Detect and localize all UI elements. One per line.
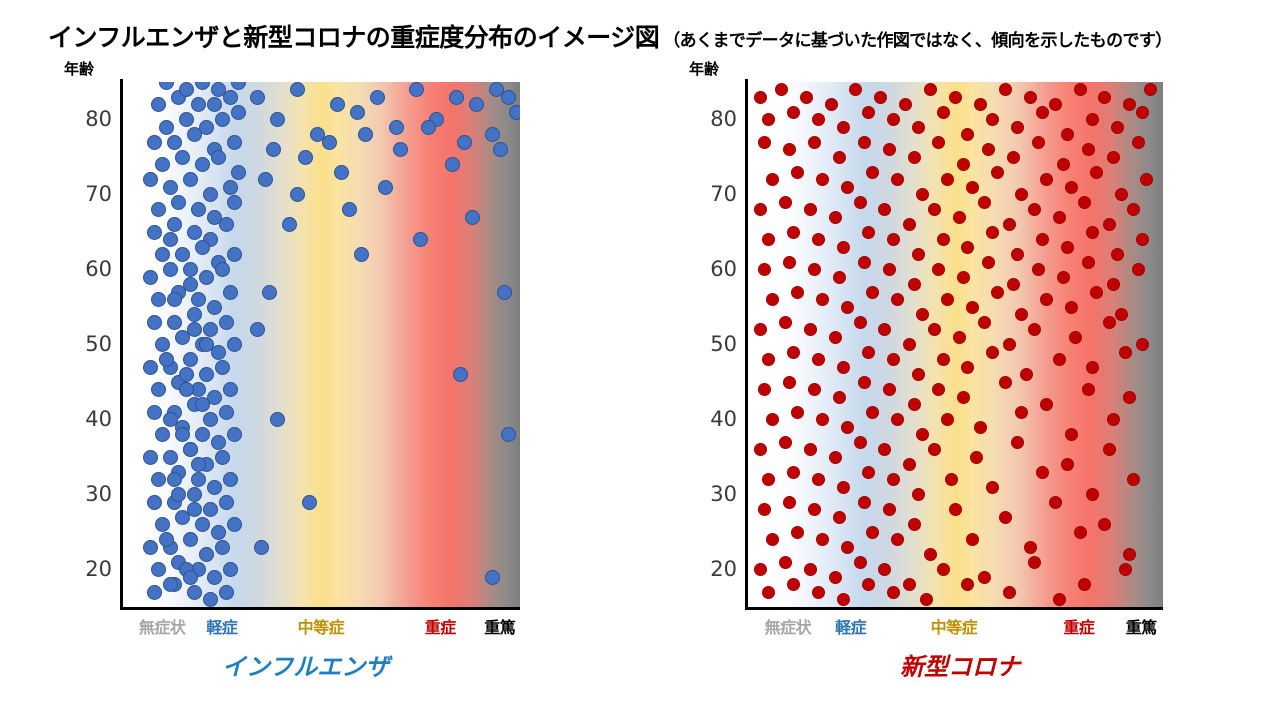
data-point: [203, 502, 218, 517]
data-point: [816, 533, 829, 546]
data-point: [1015, 406, 1028, 419]
data-point: [791, 406, 804, 419]
data-point: [282, 217, 297, 232]
data-point: [191, 292, 206, 307]
data-point: [937, 563, 950, 576]
data-point: [445, 157, 460, 172]
data-point: [1123, 391, 1136, 404]
data-point: [199, 270, 214, 285]
data-point: [1011, 121, 1024, 134]
data-point: [1049, 496, 1062, 509]
data-point: [187, 127, 202, 142]
data-point: [179, 367, 194, 382]
data-point: [783, 376, 796, 389]
data-point: [219, 495, 234, 510]
data-point: [1003, 586, 1016, 599]
data-point: [970, 451, 983, 464]
data-point: [223, 180, 238, 195]
data-point: [787, 226, 800, 239]
data-point: [1123, 548, 1136, 561]
data-point: [1061, 458, 1074, 471]
data-point: [231, 165, 246, 180]
series-title-covid: 新型コロナ: [900, 647, 1020, 682]
data-point: [1049, 98, 1062, 111]
data-point: [211, 525, 226, 540]
x-axis-category-5: 重篤: [1126, 614, 1157, 638]
x-axis-category-4: 重症: [425, 614, 456, 638]
data-point: [829, 331, 842, 344]
data-point: [758, 136, 771, 149]
y-axis-tick-label: 20: [85, 559, 112, 580]
data-point: [783, 143, 796, 156]
data-point: [999, 83, 1012, 96]
data-point: [1107, 278, 1120, 291]
plot-area-influenza: [123, 82, 520, 607]
data-point: [878, 323, 891, 336]
data-point: [866, 526, 879, 539]
data-point: [290, 187, 305, 202]
data-point: [953, 331, 966, 344]
data-point: [924, 548, 937, 561]
data-point: [816, 293, 829, 306]
data-point: [912, 488, 925, 501]
data-point: [469, 97, 484, 112]
data-point: [207, 300, 222, 315]
data-point: [195, 240, 210, 255]
data-point: [978, 316, 991, 329]
x-axis-line: [745, 607, 1163, 610]
data-point: [1127, 203, 1140, 216]
data-point: [183, 172, 198, 187]
data-point: [766, 533, 779, 546]
data-point: [762, 473, 775, 486]
data-point: [1053, 211, 1066, 224]
data-point: [215, 540, 230, 555]
y-axis-tick-label: 80: [710, 109, 737, 130]
data-point: [854, 316, 867, 329]
data-point: [908, 398, 921, 411]
data-point: [1053, 593, 1066, 606]
data-point: [1119, 563, 1132, 576]
data-point: [862, 106, 875, 119]
data-point: [945, 473, 958, 486]
data-point: [509, 105, 520, 120]
data-point: [1057, 158, 1070, 171]
data-point: [227, 337, 242, 352]
data-point: [887, 233, 900, 246]
data-point: [1136, 233, 1149, 246]
data-point: [1132, 263, 1145, 276]
data-point: [203, 187, 218, 202]
data-point: [982, 256, 995, 269]
data-point: [227, 195, 242, 210]
x-axis-category-2: 軽症: [835, 614, 866, 638]
data-point: [183, 532, 198, 547]
y-axis-tick-label: 50: [710, 334, 737, 355]
data-point: [762, 586, 775, 599]
data-point: [187, 585, 202, 600]
data-point: [1015, 308, 1028, 321]
data-point: [791, 166, 804, 179]
data-point: [1007, 278, 1020, 291]
data-point: [874, 91, 887, 104]
data-point: [219, 217, 234, 232]
data-point: [999, 511, 1012, 524]
data-point: [1132, 136, 1145, 149]
data-point: [1136, 338, 1149, 351]
data-point: [858, 496, 871, 509]
data-point: [974, 421, 987, 434]
data-point: [195, 427, 210, 442]
data-point: [179, 112, 194, 127]
data-point: [862, 226, 875, 239]
data-point: [187, 322, 202, 337]
data-point: [758, 503, 771, 516]
data-point: [837, 481, 850, 494]
data-point: [837, 361, 850, 374]
data-point: [1061, 128, 1074, 141]
data-point: [151, 562, 166, 577]
data-point: [766, 413, 779, 426]
data-point: [891, 533, 904, 546]
data-point: [254, 540, 269, 555]
data-point: [833, 151, 846, 164]
data-point: [1111, 121, 1124, 134]
data-point: [155, 247, 170, 262]
data-point: [986, 113, 999, 126]
page-subtitle: （あくまでデータに基づいた作図ではなく、傾向を示したものです）: [663, 26, 1171, 51]
data-point: [837, 593, 850, 606]
data-point: [908, 518, 921, 531]
y-axis-tick-label: 80: [85, 109, 112, 130]
data-point: [1065, 181, 1078, 194]
data-point: [1040, 173, 1053, 186]
data-point: [999, 376, 1012, 389]
data-point: [231, 105, 246, 120]
data-point: [155, 517, 170, 532]
data-point: [143, 270, 158, 285]
data-point: [1127, 473, 1140, 486]
data-point: [912, 368, 925, 381]
data-point: [991, 286, 1004, 299]
data-point: [779, 556, 792, 569]
data-point: [787, 466, 800, 479]
data-point: [808, 503, 821, 516]
data-point: [378, 180, 393, 195]
data-point: [841, 301, 854, 314]
data-point: [191, 457, 206, 472]
data-point: [1036, 106, 1049, 119]
data-point: [163, 450, 178, 465]
data-point: [322, 135, 337, 150]
data-point: [899, 98, 912, 111]
data-point: [837, 241, 850, 254]
data-point: [1103, 218, 1116, 231]
data-point: [941, 413, 954, 426]
data-point: [207, 480, 222, 495]
data-point: [1086, 361, 1099, 374]
data-point: [1028, 203, 1041, 216]
data-point: [883, 383, 896, 396]
data-point: [1057, 271, 1070, 284]
data-point: [250, 322, 265, 337]
data-point: [791, 286, 804, 299]
data-point: [175, 150, 190, 165]
data-point: [219, 585, 234, 600]
data-point: [903, 338, 916, 351]
data-point: [858, 376, 871, 389]
data-point: [183, 262, 198, 277]
data-point: [766, 293, 779, 306]
data-point: [302, 495, 317, 510]
data-point: [766, 173, 779, 186]
data-point: [1119, 346, 1132, 359]
data-point: [155, 337, 170, 352]
data-point: [1136, 106, 1149, 119]
data-point: [912, 121, 925, 134]
data-point: [1036, 233, 1049, 246]
data-point: [497, 285, 512, 300]
data-point: [961, 241, 974, 254]
data-point: [151, 472, 166, 487]
x-axis-category-4: 重症: [1063, 614, 1094, 638]
data-point: [812, 586, 825, 599]
data-point: [891, 413, 904, 426]
data-point: [1040, 398, 1053, 411]
data-point: [151, 382, 166, 397]
data-point: [974, 98, 987, 111]
data-point: [1024, 541, 1037, 554]
series-title-influenza: インフルエンザ: [222, 647, 389, 682]
data-point: [1082, 256, 1095, 269]
data-point: [854, 196, 867, 209]
data-point: [207, 97, 222, 112]
data-point: [966, 301, 979, 314]
data-point: [986, 226, 999, 239]
data-point: [887, 586, 900, 599]
data-point: [1069, 331, 1082, 344]
data-point: [215, 360, 230, 375]
data-point: [211, 82, 226, 97]
data-point: [862, 578, 875, 591]
data-point: [932, 383, 945, 396]
data-point: [754, 323, 767, 336]
x-axis-category-1: 無症状: [765, 614, 812, 638]
data-point: [916, 188, 929, 201]
data-point: [800, 91, 813, 104]
data-point: [203, 592, 218, 607]
data-point: [837, 121, 850, 134]
data-point: [370, 90, 385, 105]
data-point: [787, 578, 800, 591]
data-point: [783, 256, 796, 269]
data-point: [219, 315, 234, 330]
data-point: [866, 286, 879, 299]
data-point: [754, 203, 767, 216]
data-point: [1098, 91, 1111, 104]
data-point: [829, 451, 842, 464]
data-point: [791, 526, 804, 539]
data-point: [779, 436, 792, 449]
y-axis-tick-label: 20: [710, 559, 737, 580]
data-point: [187, 487, 202, 502]
data-point: [862, 466, 875, 479]
data-point: [195, 157, 210, 172]
data-point: [298, 150, 313, 165]
data-point: [1103, 316, 1116, 329]
page-title: インフルエンザと新型コロナの重症度分布のイメージ図: [48, 18, 659, 54]
data-point: [147, 495, 162, 510]
data-point: [147, 135, 162, 150]
data-point: [1107, 151, 1120, 164]
data-point: [804, 323, 817, 336]
data-point: [485, 127, 500, 142]
data-point: [203, 412, 218, 427]
data-point: [961, 128, 974, 141]
data-point: [957, 271, 970, 284]
data-point: [1053, 353, 1066, 366]
data-point: [167, 292, 182, 307]
data-point: [1103, 443, 1116, 456]
data-point: [1074, 526, 1087, 539]
data-point: [147, 405, 162, 420]
data-point: [758, 263, 771, 276]
data-point: [908, 151, 921, 164]
data-point: [215, 112, 230, 127]
data-point: [941, 173, 954, 186]
x-axis-category-1: 無症状: [139, 614, 186, 638]
data-point: [1078, 578, 1091, 591]
data-point: [227, 135, 242, 150]
data-point: [858, 256, 871, 269]
data-point: [1086, 226, 1099, 239]
data-point: [1032, 263, 1045, 276]
x-axis-category-5: 重篤: [484, 614, 515, 638]
data-point: [1107, 413, 1120, 426]
data-point: [953, 211, 966, 224]
data-point: [883, 503, 896, 516]
data-point: [808, 136, 821, 149]
data-point: [159, 82, 174, 90]
data-point: [143, 360, 158, 375]
data-point: [754, 91, 767, 104]
data-point: [191, 472, 206, 487]
y-axis-tick-label: 50: [85, 334, 112, 355]
data-point: [816, 413, 829, 426]
data-point: [754, 443, 767, 456]
data-point: [937, 233, 950, 246]
plot-area-covid: [748, 82, 1163, 607]
data-point: [891, 293, 904, 306]
data-point: [223, 562, 238, 577]
data-point: [1098, 518, 1111, 531]
data-point: [833, 391, 846, 404]
data-point: [1040, 293, 1053, 306]
data-point: [1003, 218, 1016, 231]
data-point: [231, 82, 246, 90]
data-point: [957, 391, 970, 404]
data-point: [812, 473, 825, 486]
data-point: [762, 353, 775, 366]
data-point: [409, 82, 424, 97]
data-point: [804, 203, 817, 216]
data-point: [155, 157, 170, 172]
data-point: [167, 135, 182, 150]
data-point: [223, 472, 238, 487]
data-point: [762, 113, 775, 126]
data-point: [787, 106, 800, 119]
data-point: [211, 150, 226, 165]
data-point: [258, 172, 273, 187]
data-point: [1115, 188, 1128, 201]
y-axis-tick-label: 60: [85, 259, 112, 280]
data-point: [199, 547, 214, 562]
data-point: [1020, 368, 1033, 381]
data-point: [941, 293, 954, 306]
data-point: [191, 202, 206, 217]
data-point: [1032, 136, 1045, 149]
data-point: [949, 503, 962, 516]
data-point: [179, 82, 194, 97]
x-axis-category-2: 軽症: [206, 614, 237, 638]
data-point: [175, 427, 190, 442]
data-point: [290, 82, 305, 97]
data-point: [825, 98, 838, 111]
data-point: [812, 233, 825, 246]
data-point: [783, 496, 796, 509]
y-axis-tick-label: 70: [85, 184, 112, 205]
data-point: [841, 541, 854, 554]
data-point: [1011, 248, 1024, 261]
data-point: [779, 196, 792, 209]
data-point: [501, 90, 516, 105]
data-point: [147, 315, 162, 330]
data-point: [1028, 323, 1041, 336]
data-point: [1090, 286, 1103, 299]
data-point: [787, 346, 800, 359]
data-point: [342, 202, 357, 217]
data-point: [449, 90, 464, 105]
data-point: [167, 472, 182, 487]
data-point: [413, 232, 428, 247]
data-point: [199, 337, 214, 352]
data-point: [1086, 488, 1099, 501]
data-point: [334, 165, 349, 180]
data-point: [808, 383, 821, 396]
data-point: [147, 225, 162, 240]
data-point: [812, 113, 825, 126]
data-point: [1082, 383, 1095, 396]
data-point: [179, 382, 194, 397]
data-point: [151, 97, 166, 112]
data-point: [924, 83, 937, 96]
data-point: [191, 97, 206, 112]
y-axis-tick-label: 30: [85, 484, 112, 505]
data-point: [862, 346, 875, 359]
data-point: [916, 308, 929, 321]
data-point: [932, 263, 945, 276]
data-point: [1003, 338, 1016, 351]
data-point: [223, 285, 238, 300]
data-point: [393, 142, 408, 157]
title-bar: インフルエンザと新型コロナの重症度分布のイメージ図（あくまでデータに基づいた作図…: [48, 18, 1268, 52]
data-point: [866, 166, 879, 179]
data-point: [883, 263, 896, 276]
data-point: [986, 346, 999, 359]
data-point: [903, 578, 916, 591]
data-point: [250, 90, 265, 105]
data-point: [841, 421, 854, 434]
